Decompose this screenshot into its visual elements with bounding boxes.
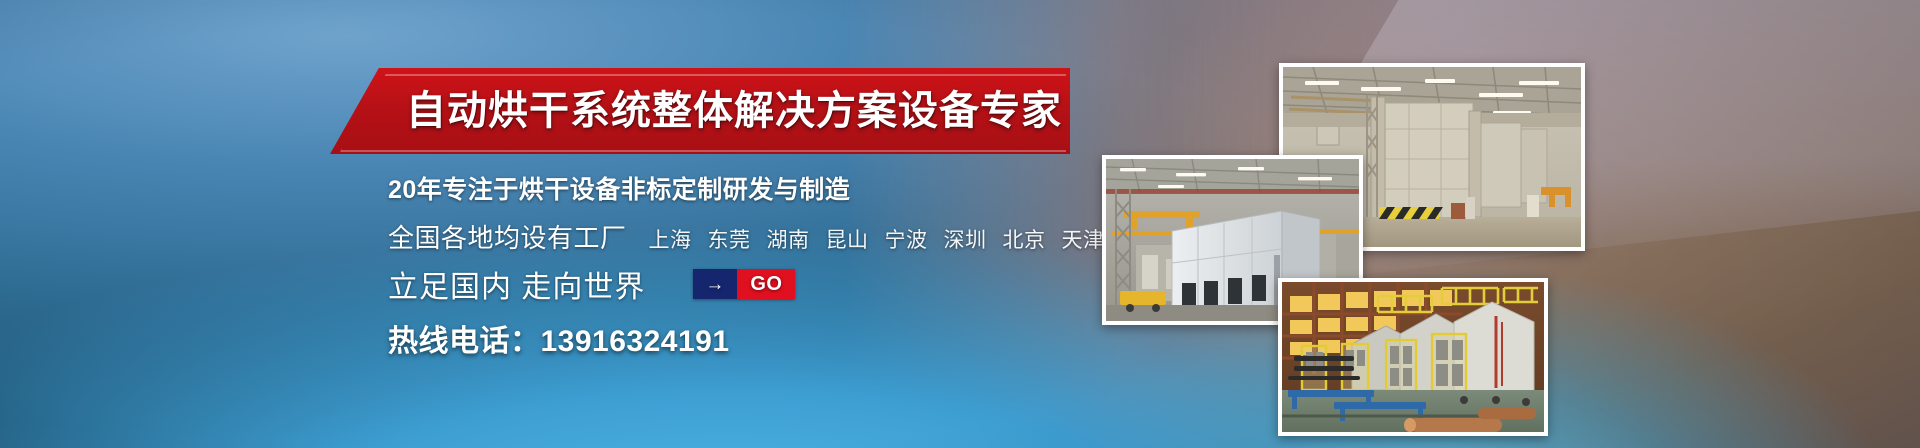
city-item: 上海 <box>649 224 692 254</box>
city-list: 上海 东莞 湖南 昆山 宁波 深圳 北京 天津 <box>649 224 1105 254</box>
city-item: 东莞 <box>708 224 751 254</box>
coverage-label: 全国各地均设有工厂 <box>388 218 627 255</box>
city-item: 宁波 <box>885 224 928 254</box>
headline-text: 自动烘干系统整体解决方案设备专家 <box>406 72 1062 150</box>
coverage-row: 全国各地均设有工厂 上海 东莞 湖南 昆山 宁波 深圳 北京 天津 <box>388 218 1105 255</box>
go-button-label: GO <box>737 269 795 299</box>
city-item: 北京 <box>1003 224 1046 254</box>
arrow-right-icon: → <box>693 269 737 299</box>
slogan-row: 立足国内 走向世界 → GO <box>388 262 795 306</box>
subtitle-text: 20年专注于烘干设备非标定制研发与制造 <box>388 170 850 206</box>
promo-banner: 自动烘干系统整体解决方案设备专家 20年专注于烘干设备非标定制研发与制造 全国各… <box>0 0 1920 448</box>
city-item: 天津 <box>1062 224 1105 254</box>
hotline-text: 热线电话：13916324191 <box>388 316 730 360</box>
city-item: 昆山 <box>826 224 869 254</box>
slogan-text: 立足国内 走向世界 <box>388 262 645 306</box>
go-button[interactable]: → GO <box>693 269 795 299</box>
city-item: 深圳 <box>944 224 987 254</box>
photo-production-line[interactable] <box>1278 278 1548 436</box>
city-item: 湖南 <box>767 224 810 254</box>
